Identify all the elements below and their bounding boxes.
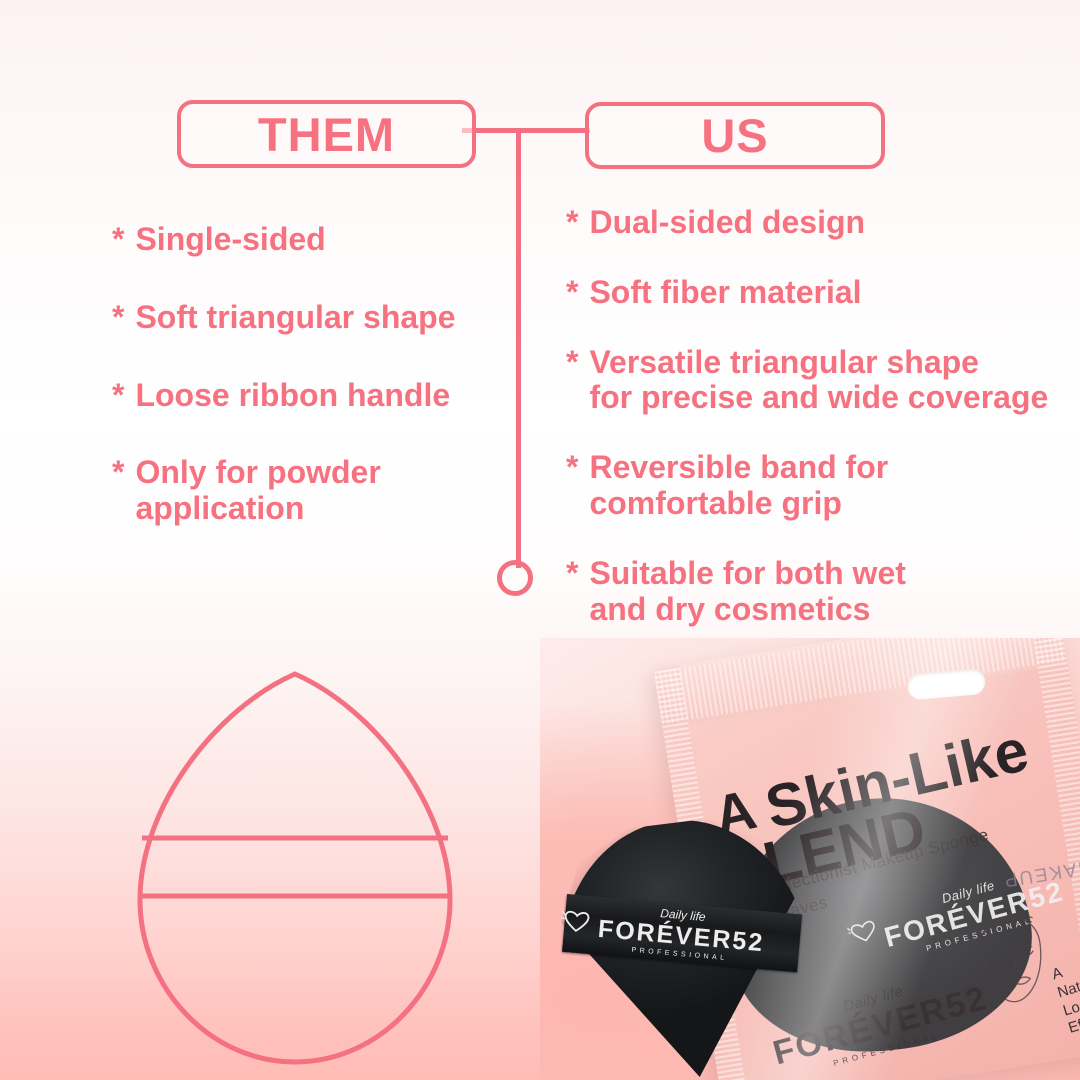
feature-list-them: * Single-sided * Soft triangular shape *… — [112, 222, 502, 569]
brand-lockup-ribbon: Daily life FORÉVER52 PROFESSIONAL — [596, 901, 766, 965]
connector-endpoint-circle — [497, 560, 533, 596]
header-label-us: US — [701, 108, 768, 163]
feature-text: Reversible band for comfortable grip — [589, 450, 1076, 522]
powder-puff-outline-icon — [130, 668, 460, 1068]
heart-wing-logo-icon — [560, 908, 594, 935]
feature-text: Versatile triangular shape for precise a… — [589, 345, 1076, 417]
feature-text: Dual-sided design — [589, 205, 1076, 241]
header-box-us: US — [585, 102, 885, 169]
feature-text: Only for powder application — [135, 455, 502, 527]
list-item: * Loose ribbon handle — [112, 378, 502, 414]
product-photo: A Skin-Like BLEND The Perfectionist Make… — [540, 638, 1080, 1080]
list-item: * Only for powder application — [112, 455, 502, 527]
list-item: * Versatile triangular shape for precise… — [566, 345, 1076, 417]
bullet-star-icon: * — [112, 300, 124, 336]
list-item: * Soft fiber material — [566, 275, 1076, 311]
list-item: * Single-sided — [112, 222, 502, 258]
feature-text: Soft fiber material — [589, 275, 1076, 311]
bullet-star-icon: * — [566, 556, 578, 628]
connector-line-vertical — [516, 128, 521, 568]
bullet-star-icon: * — [112, 455, 124, 527]
bullet-star-icon: * — [566, 345, 578, 417]
feature-text: Suitable for both wet and dry cosmetics — [589, 556, 1076, 628]
connector-line-right — [516, 128, 590, 133]
header-label-them: THEM — [258, 107, 395, 162]
list-item: * Dual-sided design — [566, 205, 1076, 241]
feature-list-us: * Dual-sided design * Soft fiber materia… — [566, 205, 1076, 662]
black-triangular-sponge: Daily life FORÉVER52 PROFESSIONAL — [545, 806, 823, 1080]
header-box-them: THEM — [177, 100, 476, 168]
feature-text: Loose ribbon handle — [135, 378, 502, 414]
bullet-star-icon: * — [566, 275, 578, 311]
list-item: * Reversible band for comfortable grip — [566, 450, 1076, 522]
bullet-star-icon: * — [112, 378, 124, 414]
list-item: * Suitable for both wet and dry cosmetic… — [566, 556, 1076, 628]
bullet-star-icon: * — [112, 222, 124, 258]
pouch-hang-hole — [906, 668, 986, 701]
comparison-graphic: THEM US * Single-sided * Soft triangular… — [0, 0, 1080, 1080]
bullet-star-icon: * — [566, 450, 578, 522]
feature-text: Soft triangular shape — [135, 300, 502, 336]
bullet-star-icon: * — [566, 205, 578, 241]
feature-text: Single-sided — [135, 222, 502, 258]
list-item: * Soft triangular shape — [112, 300, 502, 336]
